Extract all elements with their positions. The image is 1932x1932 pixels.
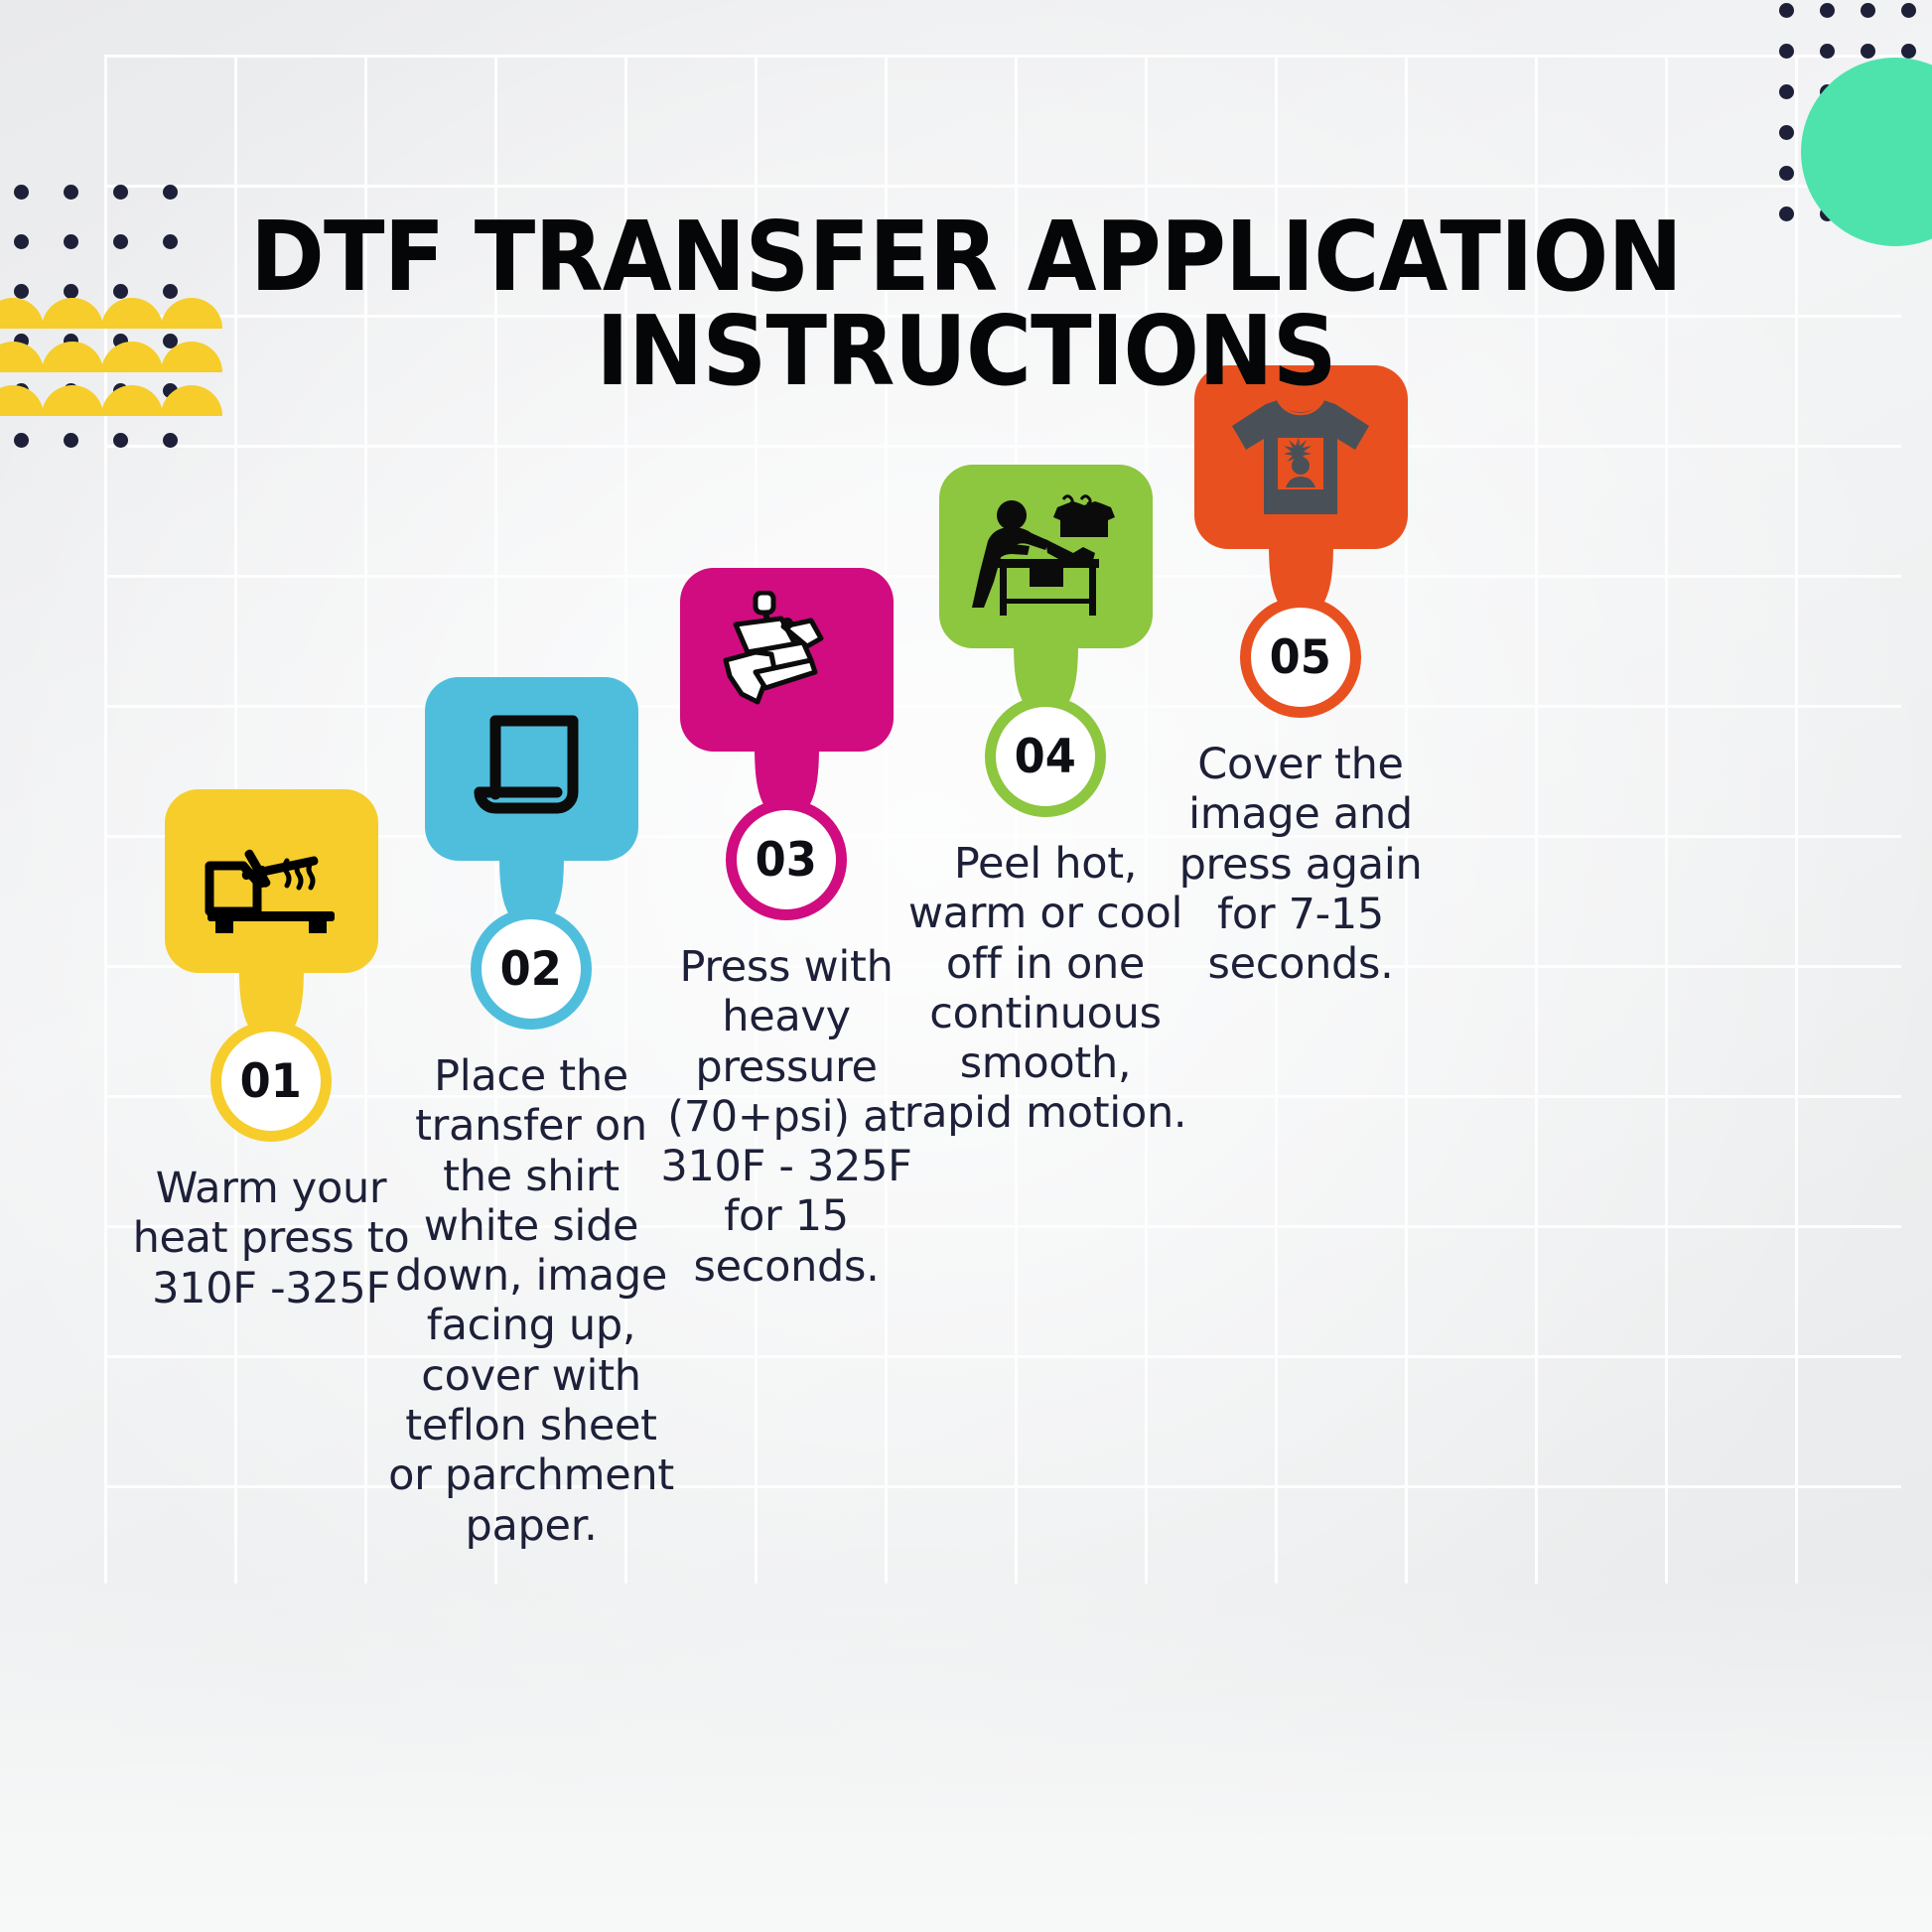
step-number-bubble-01: 01 [210, 1021, 332, 1142]
step-number-02: 02 [500, 942, 562, 997]
step-item-05: 05 Cover the image and press again for 7… [1147, 365, 1454, 1032]
step-pin-03: 03 [680, 568, 894, 920]
step-card-04[interactable] [939, 465, 1153, 648]
step-pin-05: 05 [1194, 365, 1408, 718]
step-card-01[interactable] [165, 789, 378, 973]
step-card-03[interactable] [680, 568, 894, 752]
transfer-sheet-icon [470, 711, 593, 828]
step-number-bubble-04: 04 [985, 696, 1106, 817]
step-pin-01: 01 [165, 789, 378, 1142]
step-caption-05: Cover the image and press again for 7-15… [1147, 740, 1454, 989]
heat-press-icon [202, 826, 341, 937]
step-number-05: 05 [1270, 630, 1331, 685]
page-title-line-2: INSTRUCTIONS [68, 304, 1864, 398]
step-number-bubble-02: 02 [471, 908, 592, 1030]
step-number-bubble-03: 03 [726, 799, 847, 920]
step-number-03: 03 [756, 833, 817, 888]
heat-press-machine-icon [712, 591, 861, 730]
step-pin-04: 04 [939, 465, 1153, 817]
page-title: DTF TRANSFER APPLICATION INSTRUCTIONS [68, 209, 1864, 398]
step-number-04: 04 [1015, 730, 1076, 784]
step-number-01: 01 [240, 1054, 302, 1109]
step-card-02[interactable] [425, 677, 638, 861]
page-title-line-1: DTF TRANSFER APPLICATION [68, 209, 1864, 304]
person-peeling-transfer-icon [966, 487, 1125, 626]
printed-tshirt-icon [1226, 394, 1375, 521]
step-pin-02: 02 [425, 677, 638, 1030]
step-number-bubble-05: 05 [1240, 597, 1361, 718]
